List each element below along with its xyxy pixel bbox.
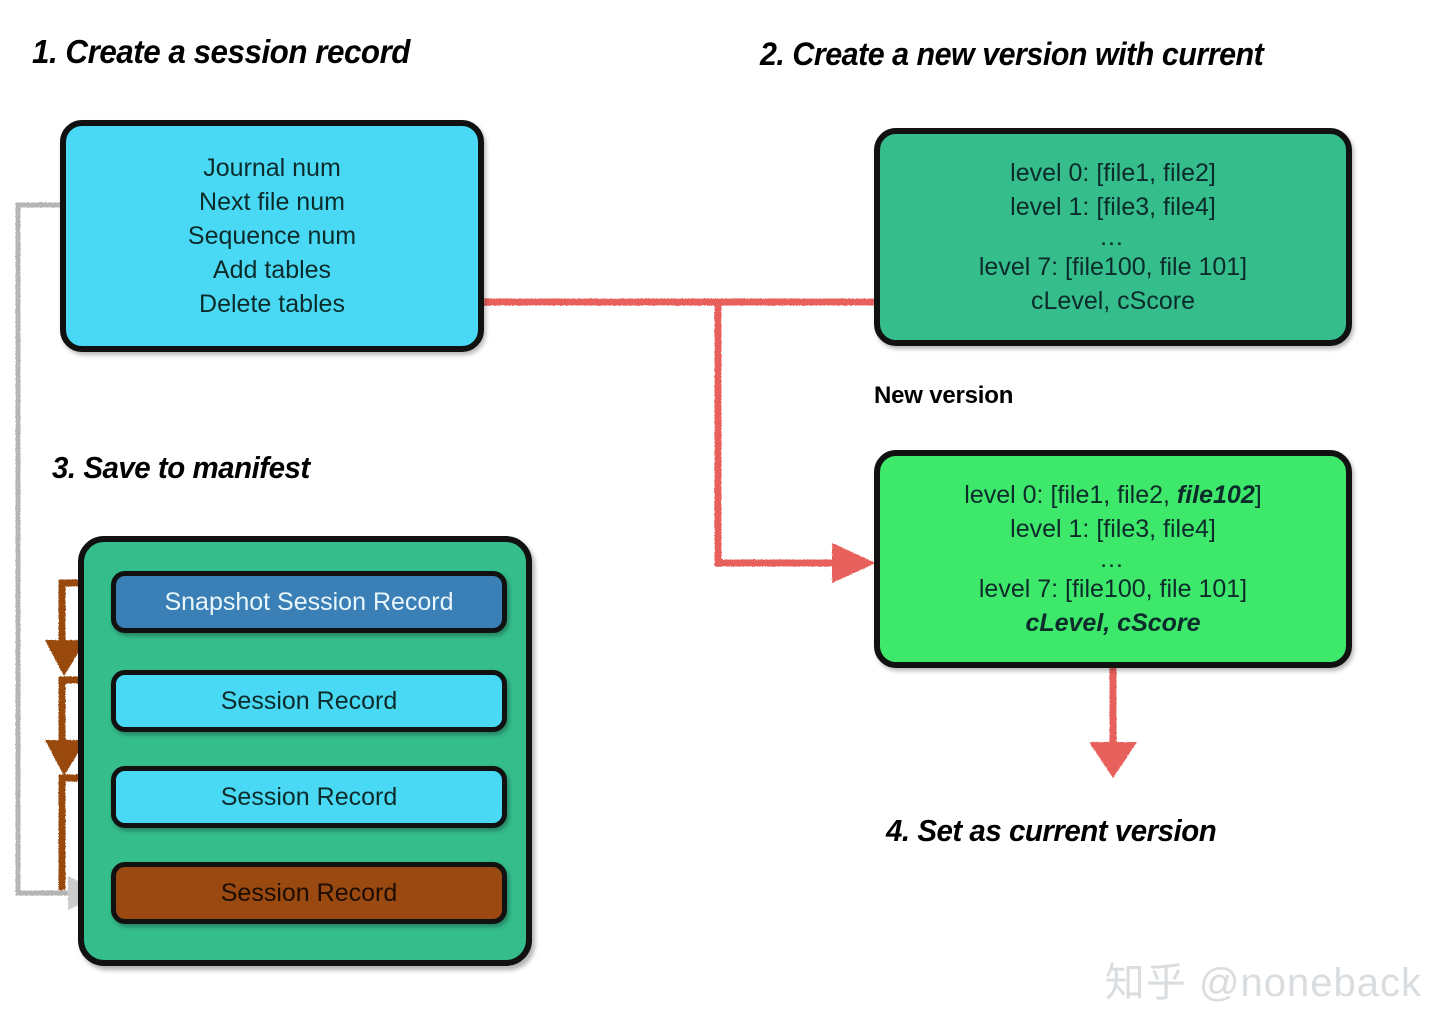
new-version-level-0-prefix: level 0: [file1, file2,	[964, 481, 1177, 509]
new-version-level-0-suffix: ]	[1255, 481, 1262, 509]
new-version-ellipsis: …	[1099, 546, 1127, 572]
current-version-ellipsis: …	[1099, 224, 1127, 250]
session-record-box: Journal num Next file num Sequence num A…	[60, 120, 484, 352]
new-version-box: level 0: [file1, file2, file102] level 1…	[874, 450, 1352, 668]
step-1-heading: 1. Create a session record	[32, 33, 410, 71]
session-field-journal-num: Journal num	[203, 151, 341, 185]
diagram-canvas: 1. Create a session record 2. Create a n…	[0, 0, 1440, 1030]
current-version-level-7: level 7: [file100, file 101]	[979, 250, 1247, 284]
new-version-level-1: level 1: [file3, file4]	[1010, 512, 1216, 546]
current-version-level-0: level 0: [file1, file2]	[1010, 156, 1216, 190]
step-4-heading: 4. Set as current version	[886, 813, 1216, 849]
new-version-level-0: level 0: [file1, file2, file102]	[964, 478, 1261, 512]
step-3-heading: 3. Save to manifest	[52, 450, 310, 486]
red-set-current-arrow	[1089, 668, 1137, 778]
red-version-connector	[484, 302, 876, 583]
session-field-next-file-num: Next file num	[199, 185, 345, 219]
manifest-record-snapshot-session-record[interactable]: Snapshot Session Record	[111, 571, 507, 633]
watermark: 知乎 @noneback	[1105, 950, 1422, 1008]
session-field-sequence-num: Sequence num	[188, 219, 356, 253]
manifest-record-session-record-1[interactable]: Session Record	[111, 670, 507, 732]
session-field-add-tables: Add tables	[213, 253, 331, 287]
new-version-level-7: level 7: [file100, file 101]	[979, 572, 1247, 606]
current-version-level-1: level 1: [file3, file4]	[1010, 190, 1216, 224]
manifest-record-session-record-2[interactable]: Session Record	[111, 766, 507, 828]
new-version-compaction-fields: cLevel, cScore	[1025, 606, 1200, 640]
current-version-box: level 0: [file1, file2] level 1: [file3,…	[874, 128, 1352, 346]
manifest-record-session-record-3[interactable]: Session Record	[111, 862, 507, 924]
step-2-heading: 2. Create a new version with current	[760, 36, 1263, 73]
session-field-delete-tables: Delete tables	[199, 287, 345, 321]
current-version-compaction-fields: cLevel, cScore	[1031, 284, 1195, 318]
new-version-added-file: file102	[1177, 481, 1255, 509]
manifest-container: Snapshot Session Record Session Record S…	[78, 536, 532, 966]
new-version-label: New version	[874, 382, 1013, 410]
